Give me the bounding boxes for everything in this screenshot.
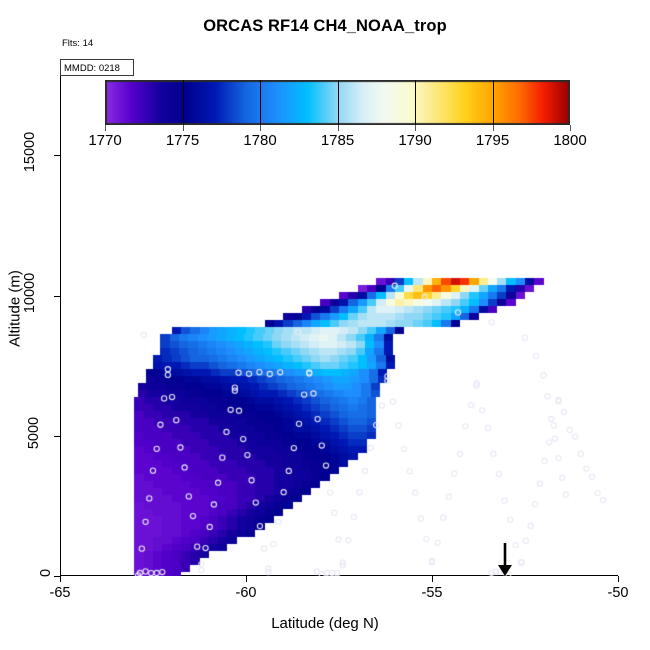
flights-count-label: Flts: 14 xyxy=(62,38,93,49)
x-ticklabel: -65 xyxy=(30,585,90,601)
colorbar-divider xyxy=(493,80,494,125)
y-axis-label: Altitude (m) xyxy=(7,199,24,419)
x-tick xyxy=(618,576,619,582)
colorbar-tick xyxy=(338,125,339,131)
y-ticklabel: 0 xyxy=(0,565,50,581)
colorbar-ticklabel: 1785 xyxy=(303,132,373,149)
colorbar-divider xyxy=(183,80,184,125)
colorbar-ticklabel: 1800 xyxy=(535,132,605,149)
mmdd-label: MMDD: 0218 xyxy=(64,63,120,74)
colorbar-tick xyxy=(105,125,106,131)
colorbar-divider xyxy=(415,80,416,125)
x-ticklabel: -50 xyxy=(588,585,648,601)
x-axis-label: Latitude (deg N) xyxy=(0,615,650,632)
colorbar-divider xyxy=(260,80,261,125)
page-title: ORCAS RF14 CH4_NOAA_trop xyxy=(0,17,650,36)
x-tick xyxy=(432,576,433,582)
x-ticklabel: -55 xyxy=(402,585,462,601)
colorbar-tick xyxy=(260,125,261,131)
colorbar-ticklabel: 1795 xyxy=(458,132,528,149)
profile-location-arrow-icon xyxy=(494,543,516,577)
mmdd-annotation-box: MMDD: 0218 xyxy=(60,59,134,76)
y-ticklabel: 15000 xyxy=(0,144,50,160)
x-ticklabel: -60 xyxy=(216,585,276,601)
colorbar-tick xyxy=(570,125,571,131)
figure-root: ORCAS RF14 CH4_NOAA_trop Flts: 14 MMDD: … xyxy=(0,0,650,650)
y-tick xyxy=(54,576,60,577)
colorbar-divider xyxy=(338,80,339,125)
colorbar-ticklabel: 1775 xyxy=(148,132,218,149)
x-tick xyxy=(246,576,247,582)
x-tick xyxy=(60,576,61,582)
colorbar-tick xyxy=(183,125,184,131)
colorbar-tick xyxy=(493,125,494,131)
y-ticklabel: 5000 xyxy=(0,425,50,441)
colorbar-ticklabel: 1780 xyxy=(225,132,295,149)
colorbar-tick xyxy=(415,125,416,131)
colorbar-ticklabel: 1790 xyxy=(380,132,450,149)
colorbar-ticklabel: 1770 xyxy=(70,132,140,149)
